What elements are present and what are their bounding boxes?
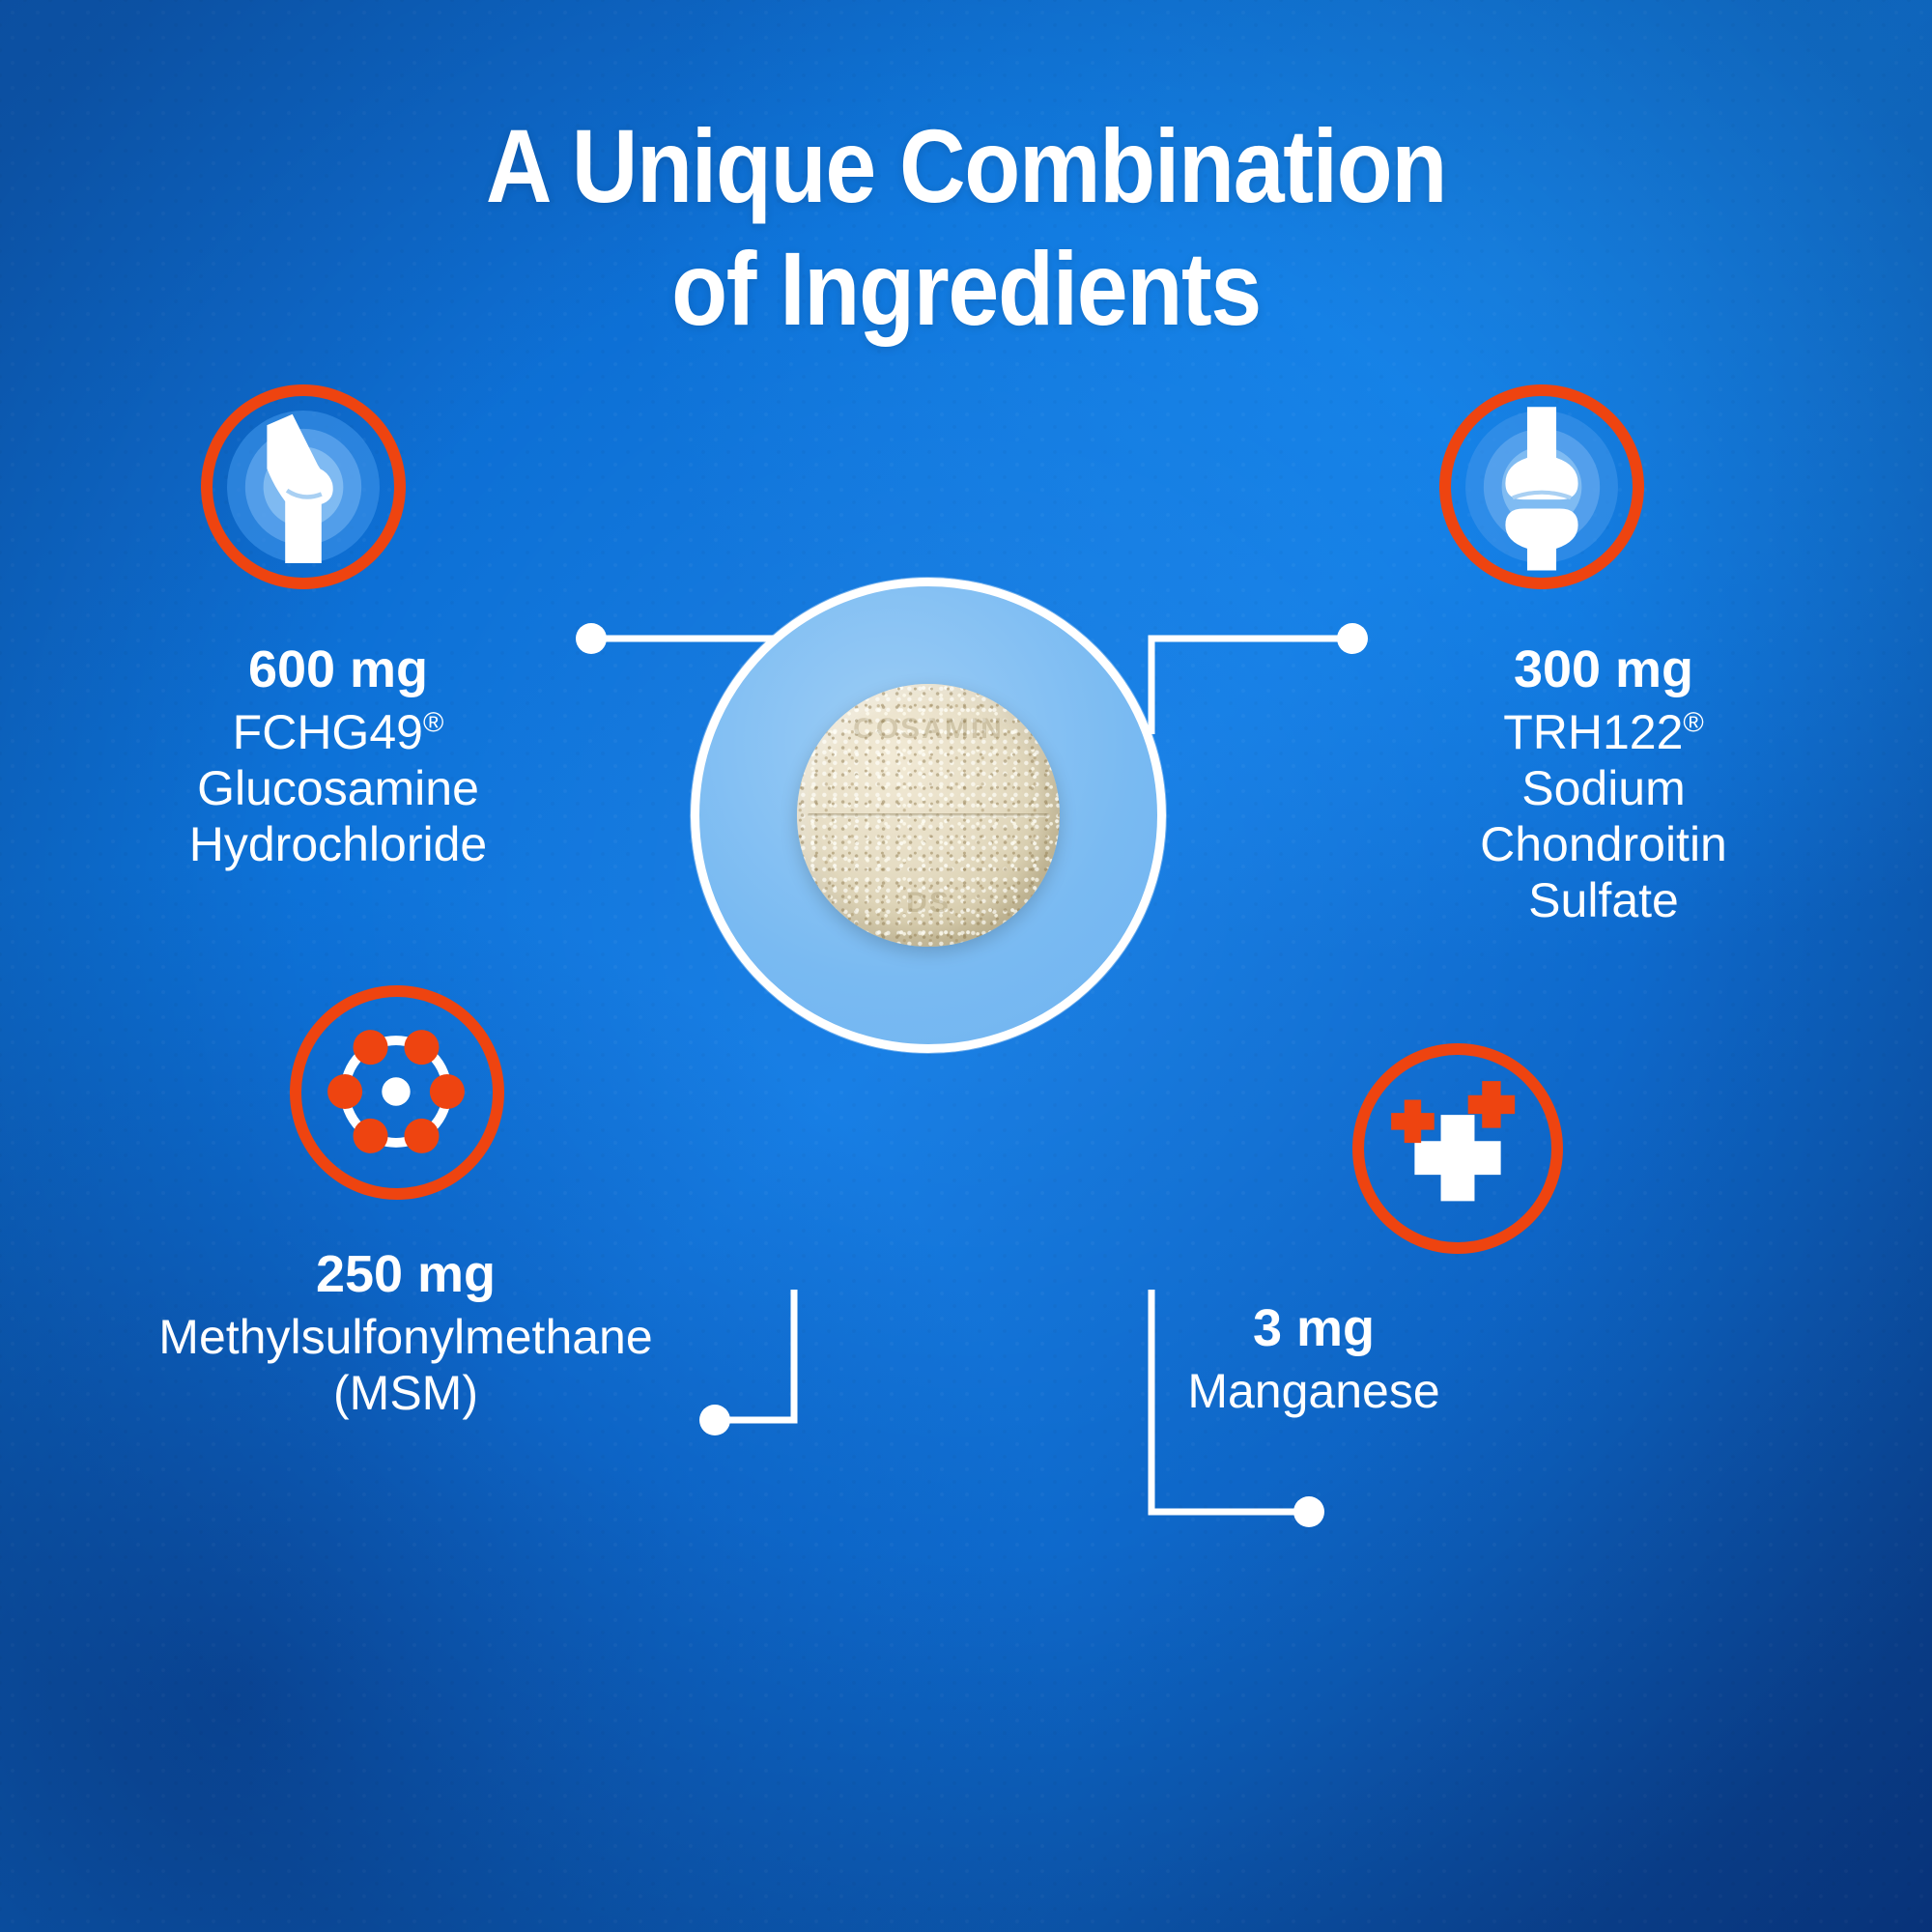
glucosamine-brand: FCHG49 <box>233 705 423 759</box>
glucosamine-name: FCHG49® Glucosamine Hydrochloride <box>87 704 589 872</box>
msm-dose: 250 mg <box>68 1246 744 1303</box>
tablet-emboss-top: COSAMIN <box>797 713 1060 746</box>
ingredient-glucosamine[interactable]: 600 mg FCHG49® Glucosamine Hydrochloride <box>87 384 589 872</box>
joint-bone-glyph <box>1451 396 1633 578</box>
chondroitin-text: 300 mg TRH122® Sodium Chondroitin Sulfat… <box>1333 641 1874 928</box>
ingredient-msm[interactable]: 250 mg Methylsulfonylmethane (MSM) <box>68 985 744 1421</box>
molecule-icon <box>290 985 504 1200</box>
msm-name-line-1: Methylsulfonylmethane <box>68 1309 744 1365</box>
chondroitin-dose: 300 mg <box>1333 641 1874 698</box>
chondroitin-name: TRH122® Sodium Chondroitin Sulfate <box>1333 704 1874 928</box>
glucosamine-text: 600 mg FCHG49® Glucosamine Hydrochloride <box>87 641 589 872</box>
joint-bone-glyph <box>213 396 394 578</box>
manganese-text: 3 mg Manganese <box>966 1300 1662 1419</box>
manganese-dose: 3 mg <box>966 1300 1662 1357</box>
joint-bone-icon <box>1439 384 1644 589</box>
infographic-canvas: A Unique Combination of Ingredients COSA… <box>0 0 1932 1932</box>
chewable-tablet-photo: COSAMIN DS <box>797 684 1060 947</box>
tablet-score-line <box>808 813 1049 817</box>
glucosamine-dose: 600 mg <box>87 641 589 698</box>
mineral-cross-glyph <box>1364 1055 1551 1242</box>
glucosamine-name-line-2: Glucosamine <box>87 760 589 816</box>
connector-dot-manganese <box>1293 1496 1324 1527</box>
registered-mark-icon: ® <box>1683 708 1703 739</box>
joint-bone-icon <box>201 384 406 589</box>
molecule-glyph <box>301 997 491 1186</box>
glucosamine-name-line-3: Hydrochloride <box>87 816 589 872</box>
manganese-name: Manganese <box>966 1363 1662 1419</box>
chondroitin-brand: TRH122 <box>1503 705 1683 759</box>
center-tablet-node: COSAMIN DS <box>691 578 1166 1053</box>
connector-chondroitin <box>1151 639 1352 734</box>
tablet-emboss-bottom: DS <box>797 887 1060 920</box>
chondroitin-name-line-4: Sulfate <box>1333 872 1874 928</box>
ingredient-manganese[interactable]: 3 mg Manganese <box>966 1043 1662 1419</box>
mineral-cross-icon <box>1352 1043 1563 1254</box>
msm-name: Methylsulfonylmethane (MSM) <box>68 1309 744 1421</box>
registered-mark-icon: ® <box>423 708 443 739</box>
chondroitin-name-line-3: Chondroitin <box>1333 816 1874 872</box>
chondroitin-name-line-2: Sodium <box>1333 760 1874 816</box>
manganese-name-line-1: Manganese <box>966 1363 1662 1419</box>
msm-text: 250 mg Methylsulfonylmethane (MSM) <box>68 1246 744 1421</box>
ingredient-chondroitin[interactable]: 300 mg TRH122® Sodium Chondroitin Sulfat… <box>1333 384 1874 928</box>
msm-name-line-2: (MSM) <box>68 1365 744 1421</box>
